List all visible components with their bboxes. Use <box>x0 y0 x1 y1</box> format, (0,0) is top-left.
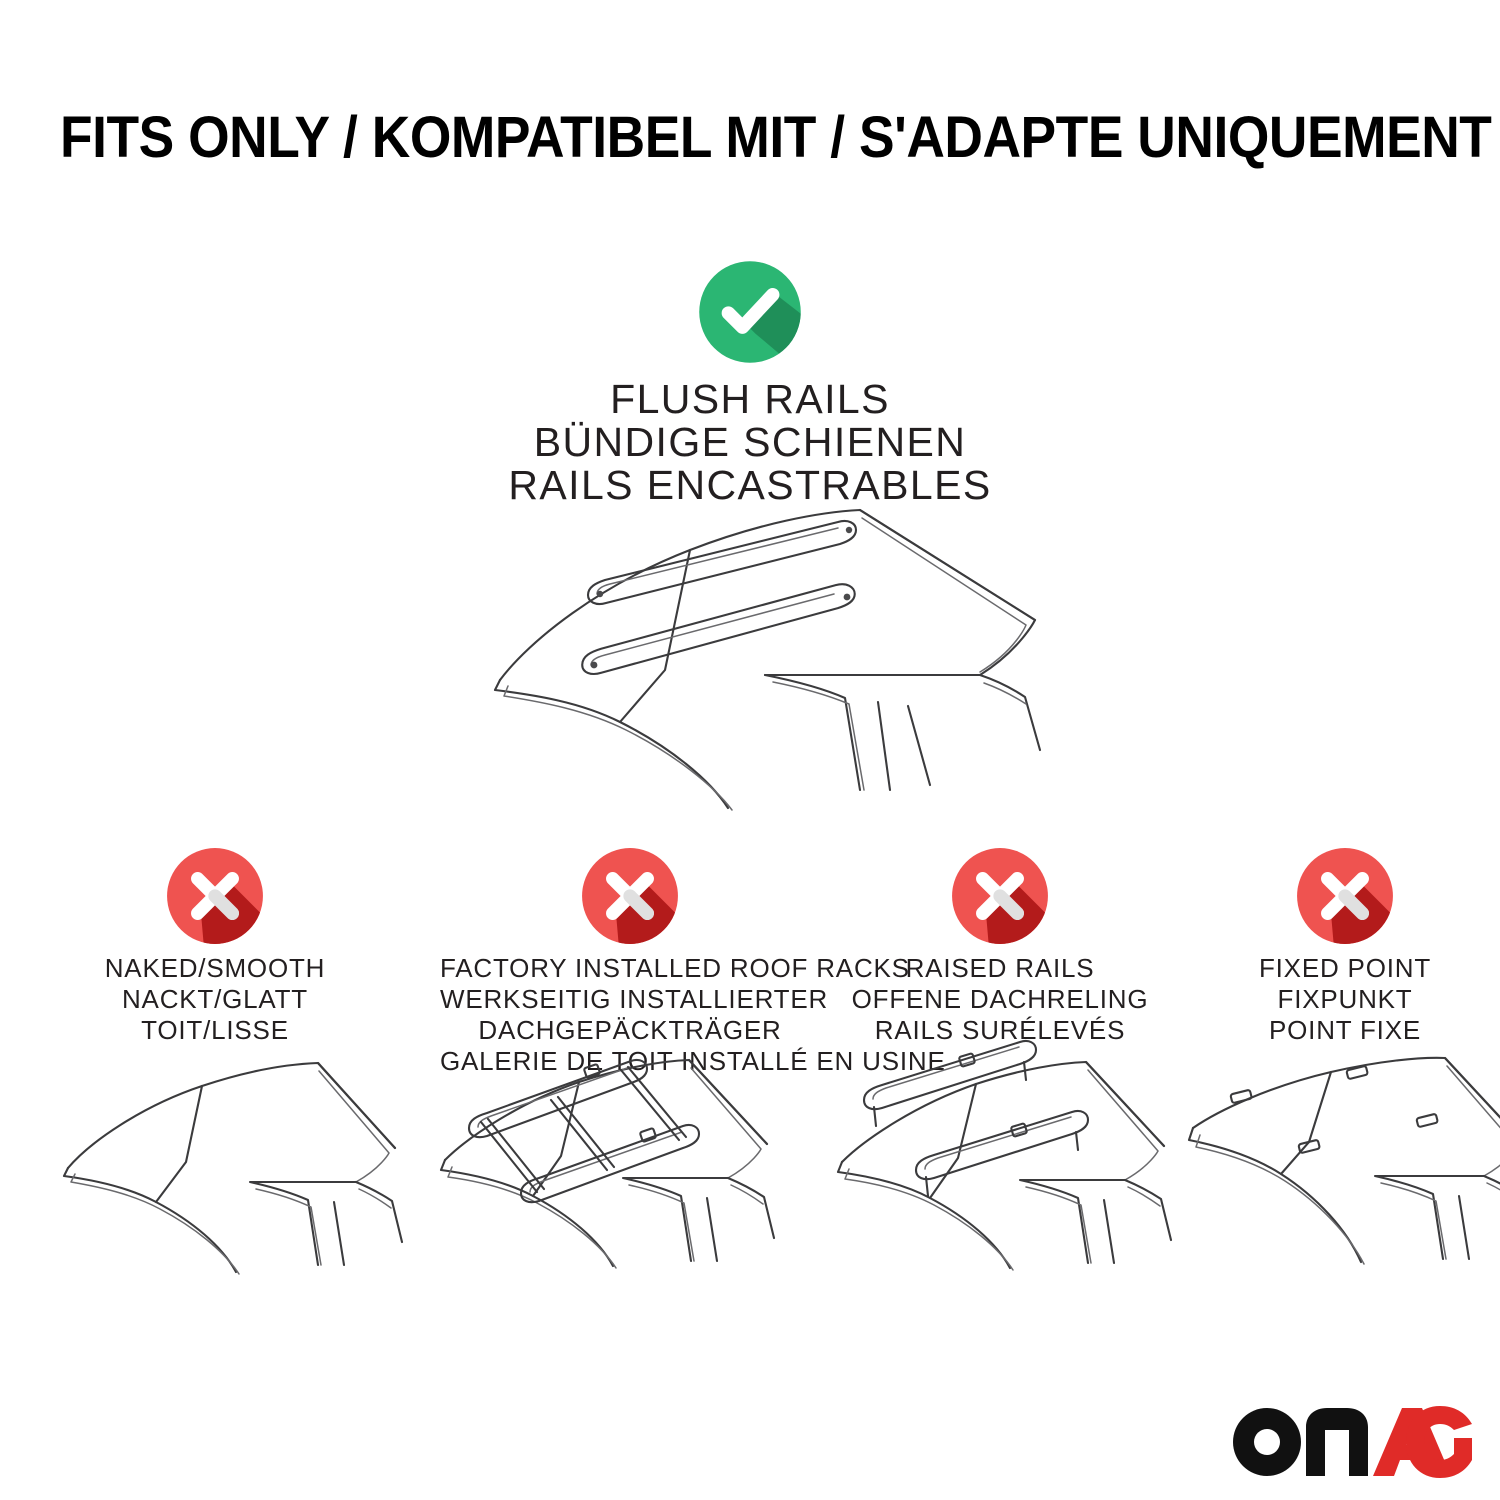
label-de: OFFENE DACHRELING <box>810 984 1190 1015</box>
label-de: NACKT/GLATT <box>25 984 405 1015</box>
car-roof-with-flush-rails-illustration <box>460 490 1080 810</box>
label-de: FIXPUNKT <box>1155 984 1500 1015</box>
label-en: NAKED/SMOOTH <box>25 953 405 984</box>
compatible-label-en: FLUSH RAILS <box>0 378 1500 421</box>
incompatible-item-naked-smooth: NAKED/SMOOTH NACKT/GLATT TOIT/LISSE <box>25 845 405 1046</box>
label-de-2: DACHGEPÄCKTRÄGER <box>440 1015 820 1046</box>
incompatible-item-fixed-point: FIXED POINT FIXPUNKT POINT FIXE <box>1155 845 1500 1046</box>
incompatible-labels: NAKED/SMOOTH NACKT/GLATT TOIT/LISSE <box>25 953 405 1046</box>
compatible-label-de: BÜNDIGE SCHIENEN <box>0 421 1500 464</box>
incompatible-labels: FIXED POINT FIXPUNKT POINT FIXE <box>1155 953 1500 1046</box>
label-de-1: WERKSEITIG INSTALLIERTER <box>440 984 820 1015</box>
incompatible-labels: RAISED RAILS OFFENE DACHRELING RAILS SUR… <box>810 953 1190 1046</box>
label-fr: TOIT/LISSE <box>25 1015 405 1046</box>
x-circle-icon <box>164 845 266 947</box>
incompatible-item-raised-rails: RAISED RAILS OFFENE DACHRELING RAILS SUR… <box>810 845 1190 1046</box>
car-roof-raised-rails-illustration <box>820 1050 1180 1295</box>
label-en: FACTORY INSTALLED ROOF RACKS <box>440 953 820 984</box>
omac-logo: OMAC <box>1232 1402 1472 1478</box>
car-roof-factory-installed-roof-racks-illustration <box>425 1050 785 1295</box>
label-en: RAISED RAILS <box>810 953 1190 984</box>
incompatible-item-factory-roof-racks: FACTORY INSTALLED ROOF RACKS WERKSEITIG … <box>440 845 820 1077</box>
x-circle-icon <box>1294 845 1396 947</box>
compatible-section: FLUSH RAILS BÜNDIGE SCHIENEN RAILS ENCAS… <box>0 258 1500 507</box>
page-title: FITS ONLY / KOMPATIBEL MIT / S'ADAPTE UN… <box>60 106 1440 170</box>
label-fr: POINT FIXE <box>1155 1015 1500 1046</box>
label-en: FIXED POINT <box>1155 953 1500 984</box>
label-fr: RAILS SURÉLEVÉS <box>810 1015 1190 1046</box>
logo-letter-o <box>1233 1408 1301 1476</box>
logo-letter-c <box>1406 1406 1472 1478</box>
x-circle-icon <box>579 845 681 947</box>
compatible-labels: FLUSH RAILS BÜNDIGE SCHIENEN RAILS ENCAS… <box>0 378 1500 507</box>
logo-letter-m <box>1306 1408 1368 1476</box>
car-roof-naked-smooth-illustration <box>50 1050 410 1295</box>
x-circle-icon <box>949 845 1051 947</box>
car-roof-fixed-point-illustration <box>1175 1050 1500 1295</box>
check-circle-icon <box>696 258 804 366</box>
